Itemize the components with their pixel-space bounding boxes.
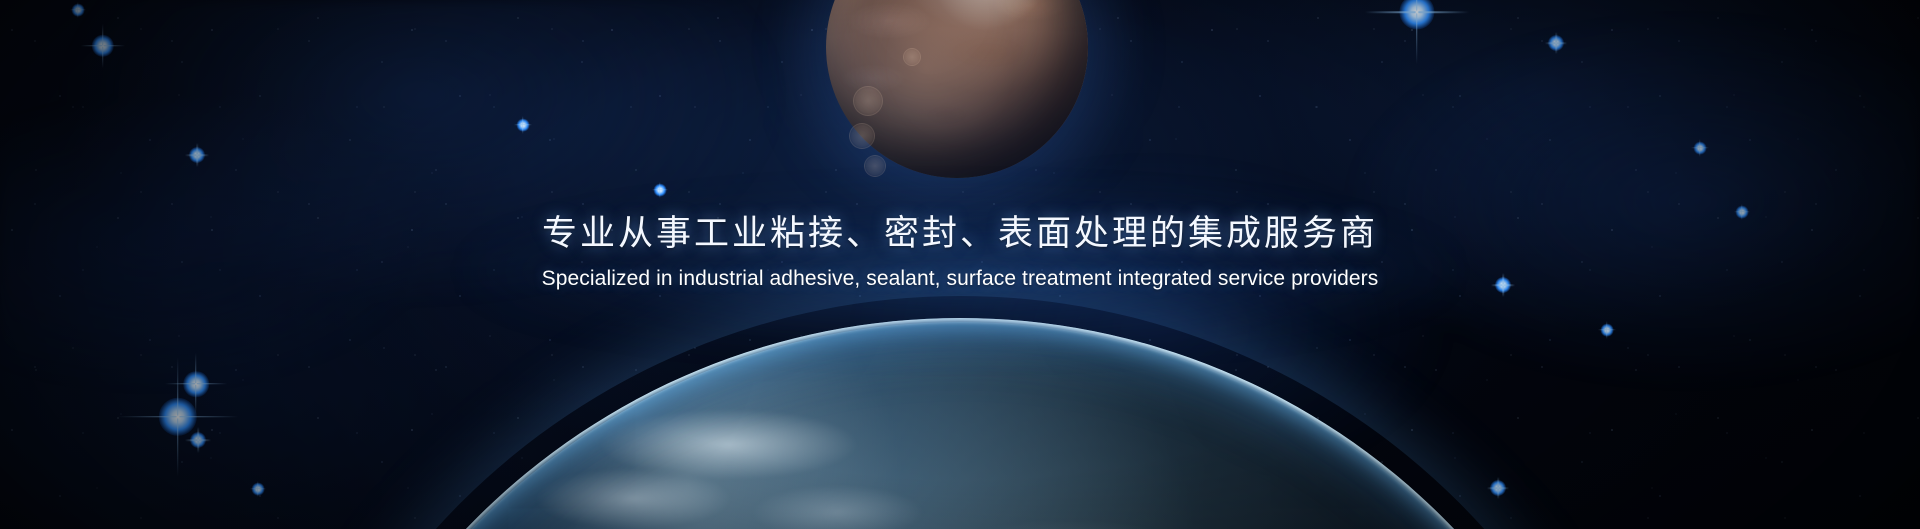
star-ray-horizontal bbox=[118, 416, 238, 418]
star-core bbox=[1490, 480, 1506, 496]
hero-banner: 专业从事工业粘接、密封、表面处理的集成服务商 Specialized in in… bbox=[0, 0, 1920, 529]
star-core bbox=[183, 371, 209, 397]
star-small-right-e bbox=[1601, 324, 1614, 337]
star-ray-horizontal bbox=[514, 124, 532, 126]
star-core bbox=[1399, 0, 1434, 30]
star-bright-right-top bbox=[1399, 0, 1434, 30]
star-core bbox=[1694, 142, 1707, 155]
star-bright-left-upper bbox=[92, 35, 114, 57]
star-small-left-c bbox=[252, 483, 265, 496]
star-ray-vertical bbox=[177, 357, 179, 477]
headline-english: Specialized in industrial adhesive, seal… bbox=[0, 266, 1920, 292]
star-core bbox=[189, 147, 205, 163]
star-ray-horizontal bbox=[185, 154, 209, 156]
star-core bbox=[654, 184, 667, 197]
star-small-mid bbox=[517, 119, 530, 132]
star-core bbox=[190, 432, 206, 448]
star-ray-vertical bbox=[195, 353, 197, 415]
headline-chinese: 专业从事工业粘接、密封、表面处理的集成服务商 bbox=[0, 214, 1920, 254]
star-ray-horizontal bbox=[1734, 211, 1750, 213]
star-core bbox=[252, 483, 265, 496]
star-ray-vertical bbox=[659, 182, 661, 198]
star-small-right-b bbox=[1694, 142, 1707, 155]
star-ray-horizontal bbox=[165, 383, 227, 385]
star-ray-vertical bbox=[102, 24, 104, 68]
star-core bbox=[72, 4, 85, 17]
earth-planet bbox=[280, 322, 1640, 529]
star-small-top-left bbox=[72, 4, 85, 17]
star-mid-left bbox=[183, 371, 209, 397]
star-ray-vertical bbox=[257, 481, 259, 497]
star-small-mid-b bbox=[654, 184, 667, 197]
star-ray-vertical bbox=[1497, 477, 1499, 499]
star-ray-horizontal bbox=[70, 9, 86, 11]
earth-atmosphere-glow bbox=[254, 296, 1666, 529]
star-ray-horizontal bbox=[1691, 147, 1709, 149]
star-bright-left-lower bbox=[159, 398, 197, 436]
earth-terminator bbox=[280, 322, 1640, 529]
star-small-left-b bbox=[189, 147, 205, 163]
star-ray-vertical bbox=[1416, 0, 1418, 64]
star-ray-vertical bbox=[77, 2, 79, 18]
star-core bbox=[92, 35, 114, 57]
flare-bokeh-3 bbox=[864, 155, 886, 177]
star-ray-vertical bbox=[196, 143, 198, 167]
star-ray-vertical bbox=[1555, 32, 1557, 54]
star-core bbox=[1548, 35, 1564, 51]
star-ray-horizontal bbox=[1365, 11, 1469, 13]
star-ray-vertical bbox=[1606, 321, 1608, 339]
star-core bbox=[1601, 324, 1614, 337]
star-ray-horizontal bbox=[1598, 329, 1616, 331]
star-ray-horizontal bbox=[652, 189, 668, 191]
star-core bbox=[159, 398, 197, 436]
earth-sphere bbox=[280, 322, 1640, 529]
star-core bbox=[517, 119, 530, 132]
star-ray-vertical bbox=[197, 427, 199, 453]
star-ray-horizontal bbox=[1487, 487, 1509, 489]
earth-landmass bbox=[280, 322, 1640, 529]
earth-clouds bbox=[280, 322, 1640, 529]
star-small-bottom bbox=[1490, 480, 1506, 496]
star-small-left-a bbox=[190, 432, 206, 448]
moon-planet bbox=[826, 0, 1088, 178]
star-ray-horizontal bbox=[81, 45, 125, 47]
star-ray-vertical bbox=[1699, 139, 1701, 157]
star-ray-horizontal bbox=[185, 439, 211, 441]
hero-copy: 专业从事工业粘接、密封、表面处理的集成服务商 Specialized in in… bbox=[0, 214, 1920, 292]
star-ray-vertical bbox=[522, 116, 524, 134]
star-ray-horizontal bbox=[250, 488, 266, 490]
star-small-right-a bbox=[1548, 35, 1564, 51]
moon-rim-light bbox=[826, 0, 1088, 178]
earth-atmosphere-rim bbox=[276, 318, 1644, 529]
star-ray-horizontal bbox=[1545, 42, 1567, 44]
